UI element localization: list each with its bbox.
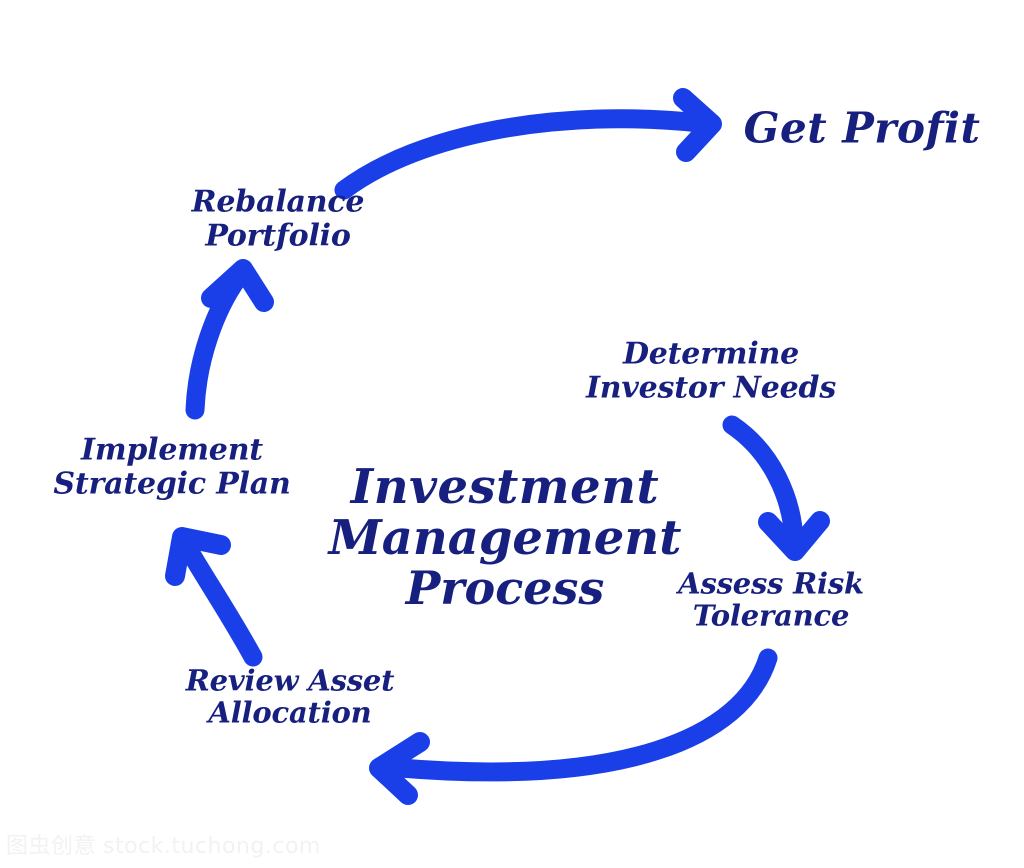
node-get-profit: Get Profit: [744, 104, 981, 151]
node-assess-risk-tolerance-line-2: Tolerance: [678, 600, 864, 632]
arrow-determine-to-assess: [732, 425, 820, 551]
watermark: 图虫创意stock.tuchong.com: [6, 828, 321, 860]
node-review-asset-allocation-line-1: Review Asset: [186, 665, 395, 697]
arrow-implement-to-rebalance: [195, 269, 264, 410]
node-implement-strategic-plan-line-2: Strategic Plan: [53, 467, 290, 501]
watermark-brand: 图虫创意: [6, 834, 96, 859]
node-review-asset-allocation-line-2: Allocation: [186, 697, 395, 729]
node-review-asset-allocation: Review Asset Allocation: [186, 665, 395, 730]
node-rebalance-portfolio: Rebalance Portfolio: [192, 185, 365, 252]
arrow-assess-to-review: [379, 658, 768, 795]
node-implement-strategic-plan-line-1: Implement: [53, 433, 290, 467]
watermark-domain: stock.tuchong.com: [103, 834, 321, 859]
arrow-rebalance-to-get-profit: [344, 98, 712, 190]
node-determine-investor-needs: Determine Investor Needs: [586, 337, 836, 404]
node-determine-investor-needs-line-2: Investor Needs: [586, 371, 836, 405]
center-title-line-3: Process: [329, 564, 682, 613]
center-title-line-2: Management: [329, 513, 682, 564]
node-rebalance-portfolio-line-2: Portfolio: [192, 219, 365, 253]
arrow-review-to-implement: [175, 537, 253, 657]
node-rebalance-portfolio-line-1: Rebalance: [192, 185, 365, 219]
diagram-canvas: Investment Management Process Get Profit…: [0, 0, 1024, 868]
diagram-center-title: Investment Management Process: [329, 462, 682, 613]
center-title-line-1: Investment: [329, 462, 682, 513]
node-implement-strategic-plan: Implement Strategic Plan: [53, 433, 290, 500]
node-get-profit-line-1: Get Profit: [744, 104, 981, 151]
node-assess-risk-tolerance: Assess Risk Tolerance: [678, 568, 864, 633]
node-assess-risk-tolerance-line-1: Assess Risk: [678, 568, 864, 600]
node-determine-investor-needs-line-1: Determine: [586, 337, 836, 371]
